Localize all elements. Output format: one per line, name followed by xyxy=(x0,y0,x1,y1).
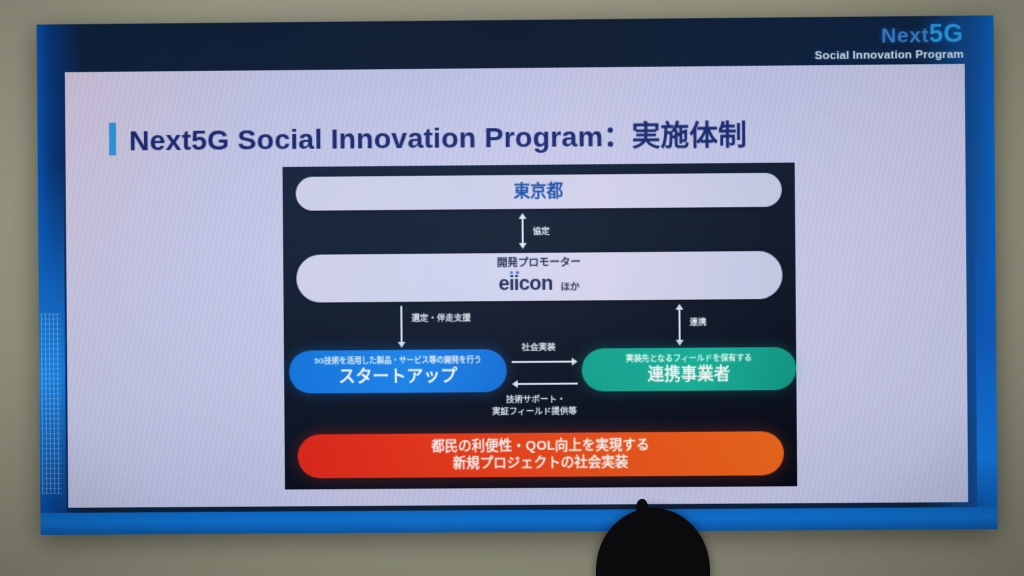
arrow-promoter-partner xyxy=(673,304,685,346)
display-monitor: Next5G Social Innovation Program Next5G … xyxy=(37,15,998,535)
node-tokyo-label: 東京都 xyxy=(514,181,564,202)
node-startup-description: 5G技術を活用した製品・サービス等の開発を行う xyxy=(314,355,481,366)
arrow-promoter-startup xyxy=(395,306,407,348)
organization-diagram: 東京都 協定 開発プロモーター eiicon xyxy=(283,163,798,490)
program-logo-subtitle: Social Innovation Program xyxy=(815,50,964,63)
slide-title-row: Next5G Social Innovation Program：実施体制 xyxy=(109,113,747,160)
page-title: Next5G Social Innovation Program：実施体制 xyxy=(129,113,747,159)
eiicon-logo: eiicon xyxy=(498,271,552,296)
node-partner: 実装先となるフィールドを保有する 連携事業者 xyxy=(582,347,797,392)
node-startup: 5G技術を活用した製品・サービス等の開発を行う スタートアップ xyxy=(289,349,507,394)
arrow-head-down-icon xyxy=(398,342,406,348)
node-partner-label: 連携事業者 xyxy=(648,364,731,385)
arrow-head-right-icon xyxy=(572,358,578,366)
connector-label-kyotei: 協定 xyxy=(533,225,550,237)
program-logo-main: Next5G xyxy=(814,22,963,48)
node-outcome-line2: 新規プロジェクトの社会実装 xyxy=(453,454,629,472)
node-startup-label: スタートアップ xyxy=(338,366,457,388)
arrow-shaft xyxy=(512,361,572,363)
connector-label-sentei: 選定・伴走支援 xyxy=(411,311,471,323)
arrow-startup-to-partner xyxy=(512,357,578,367)
eiicon-logo-text: eiicon xyxy=(498,272,552,294)
connector-label-support-line1: 技術サポート・ xyxy=(506,393,566,405)
node-outcome: 都民の利便性・QOL向上を実現する 新規プロジェクトの社会実装 xyxy=(298,431,784,478)
arrow-shaft xyxy=(518,383,578,385)
arrow-partner-to-startup xyxy=(512,379,578,389)
bottom-blue-strip xyxy=(40,507,997,535)
node-outcome-line1: 都民の利便性・QOL向上を実現する xyxy=(431,437,649,455)
arrow-head-down-icon xyxy=(519,243,527,249)
arrow-shaft xyxy=(679,310,681,340)
arrow-shaft xyxy=(401,306,403,342)
program-logo: Next5G Social Innovation Program xyxy=(814,22,963,63)
node-partner-description: 実装先となるフィールドを保有する xyxy=(626,353,752,364)
connector-label-shakai-jisso: 社会実装 xyxy=(522,341,556,353)
connector-label-renkei: 連携 xyxy=(690,316,707,328)
program-logo-next: Next xyxy=(881,24,929,48)
arrow-shaft xyxy=(522,219,524,243)
photo-of-presentation-screen: Next5G Social Innovation Program Next5G … xyxy=(0,0,1024,576)
right-edge-glow xyxy=(975,169,998,529)
program-logo-5g: 5G xyxy=(929,20,964,48)
node-tokyo: 東京都 xyxy=(296,173,782,211)
slide-content-area: Next5G Social Innovation Program：実施体制 東京… xyxy=(65,64,968,508)
node-promoter-role: 開発プロモーター xyxy=(497,257,581,271)
arrow-head-down-icon xyxy=(676,340,684,346)
promoter-logo-row: eiicon ほか xyxy=(498,271,579,297)
arrow-tokyo-promoter xyxy=(517,213,529,249)
connector-label-support-line2: 実証フィールド提供等 xyxy=(492,405,577,418)
title-accent-bar xyxy=(109,123,116,156)
cityscape-decoration xyxy=(38,167,67,514)
promoter-others-label: ほか xyxy=(561,281,580,293)
node-promoter: 開発プロモーター eiicon ほか xyxy=(296,251,782,303)
